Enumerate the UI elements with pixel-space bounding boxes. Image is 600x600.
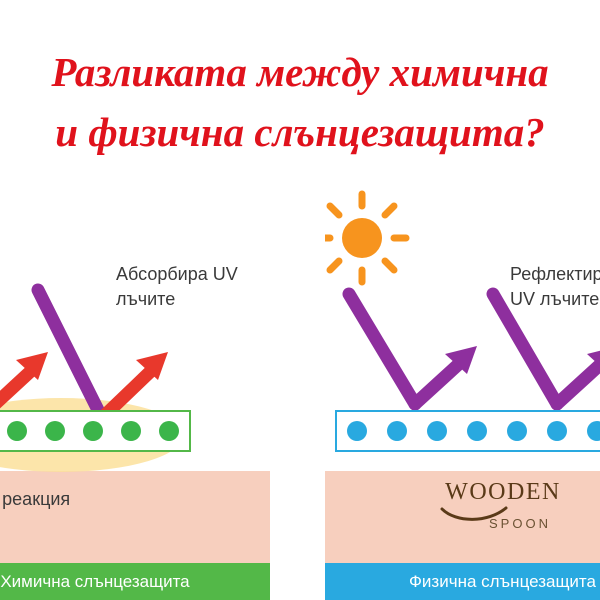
uv-ray-arrows-left [0, 186, 270, 600]
sunscreen-particle [427, 421, 447, 441]
sunscreen-particle [547, 421, 567, 441]
sunscreen-particle [507, 421, 527, 441]
physical-sunscreen-panel: Рефлектира UV лъчите WOODEN SPOON Физичн… [325, 186, 600, 600]
uv-reflect-arrows-right [325, 186, 600, 600]
sunscreen-particle [7, 421, 27, 441]
sunscreen-particle [387, 421, 407, 441]
reflects-uv-label-line-2: UV лъчите [510, 287, 600, 312]
chemical-sunscreen-layer [0, 410, 191, 452]
sunscreen-particle [159, 421, 179, 441]
sunscreen-particle [45, 421, 65, 441]
reflects-uv-label-line-1: Рефлектира [510, 262, 600, 287]
sunscreen-particle [587, 421, 600, 441]
chemical-reaction-label: Химическа реакция [0, 489, 70, 510]
sunscreen-particle [467, 421, 487, 441]
absorbs-uv-label-line-1: Абсорбира UV [116, 262, 238, 287]
brand-logo-word: WOODEN [428, 479, 578, 506]
physical-sunscreen-band-label: Физична слънцезащита [325, 563, 600, 600]
chemical-sunscreen-panel: Абсорбира UV лъчите Химическа реакция Хи… [0, 186, 270, 600]
physical-sunscreen-layer [335, 410, 600, 452]
sunscreen-particle [83, 421, 103, 441]
sunscreen-particle [121, 421, 141, 441]
chemical-sunscreen-band-label: Химична слънцезащита [0, 563, 270, 600]
reflects-uv-label: Рефлектира UV лъчите [510, 262, 600, 312]
brand-logo: WOODEN SPOON [428, 479, 578, 531]
page-title-line-1: Разликата между химична [0, 48, 600, 96]
page-title-line-2: и физична слънцезащита? [0, 108, 600, 156]
swoosh-icon [440, 506, 516, 524]
absorbs-uv-label: Абсорбира UV лъчите [116, 262, 238, 312]
absorbs-uv-label-line-2: лъчите [116, 287, 238, 312]
sunscreen-particle [347, 421, 367, 441]
infographic-root: Разликата между химична и физична слънце… [0, 0, 600, 600]
